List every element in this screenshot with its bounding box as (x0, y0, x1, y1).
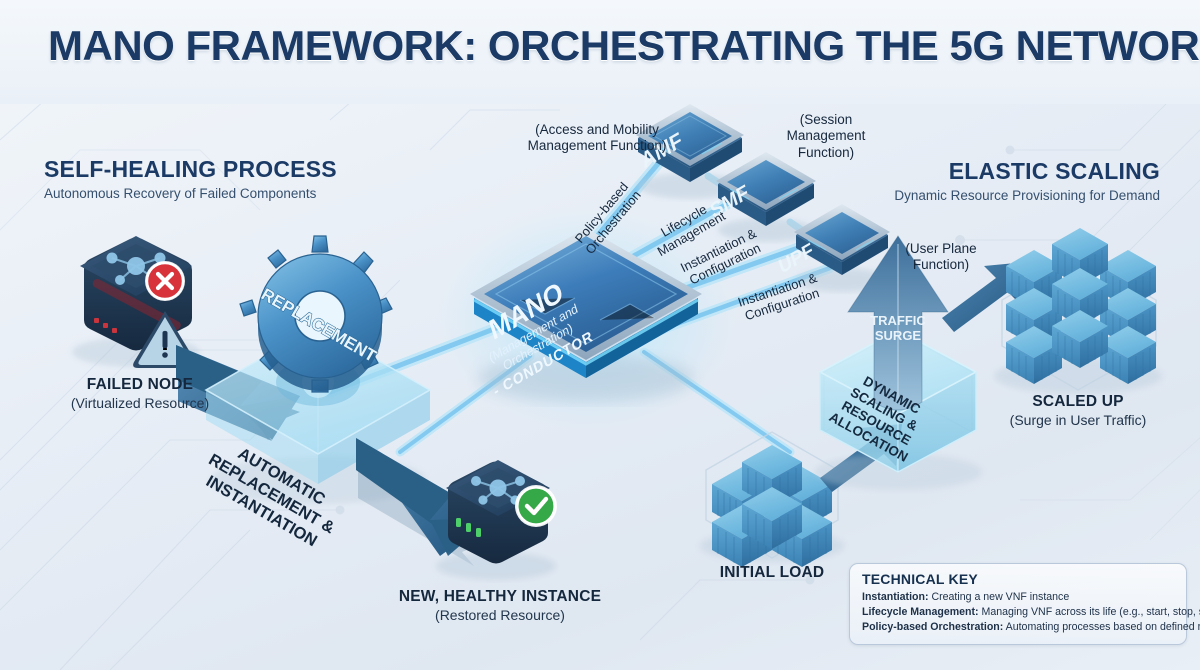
svg-text:Lifecycle: Lifecycle (658, 201, 709, 239)
key-entry-instantiation: Instantiation: Creating a new VNF instan… (862, 590, 1175, 605)
replacement-platform (206, 236, 430, 504)
link-label-policy: Policy-based Orchestration (571, 178, 644, 257)
infographic-canvas: MANO FRAMEWORK: ORCHESTRATING THE 5G NET… (0, 0, 1200, 670)
key-entry-policy: Policy-based Orchestration: Automating p… (862, 620, 1175, 635)
svg-text:SCALING &: SCALING & (848, 385, 920, 434)
svg-text:Policy-based: Policy-based (572, 179, 631, 246)
automatic-replacement-label: AUTOMATIC REPLACEMENT & INSTANTIATION (195, 433, 347, 554)
svg-text:MANO: MANO (485, 275, 566, 346)
svg-text:Orchestration): Orchestration) (501, 320, 574, 373)
replacement-gear-icon (240, 236, 392, 392)
svg-text:Instantiation &: Instantiation & (736, 270, 819, 310)
section-header-elastic-scaling: ELASTIC SCALING Dynamic Resource Provisi… (894, 158, 1160, 203)
key-entry-lifecycle: Lifecycle Management: Managing VNF acros… (862, 605, 1175, 620)
link-label-lifecycle: Lifecycle Management (647, 195, 728, 259)
self-healing-subheading: Autonomous Recovery of Failed Components (44, 186, 337, 201)
key-definition: Automating processes based on defined ru… (1003, 621, 1200, 633)
initial-load-caption: INITIAL LOAD (692, 564, 852, 582)
link-label-instantiation-2: Instantiation & Configuration (736, 270, 824, 324)
failed-node-title: FAILED NODE (30, 376, 250, 394)
dynamic-scaling-cube (814, 330, 982, 490)
initial-load-title: INITIAL LOAD (692, 564, 852, 582)
scaled-up-caption: SCALED UP (Surge in User Traffic) (988, 393, 1168, 428)
svg-text:DYNAMIC: DYNAMIC (861, 373, 924, 417)
healthy-node-graphic (436, 460, 557, 580)
failed-node-graphic (72, 236, 200, 368)
svg-text:Instantiation &: Instantiation & (678, 225, 759, 275)
initial-load-graphic (700, 432, 844, 567)
upf-expansion: (User Plane Function) (886, 241, 996, 274)
link-label-instantiation-1: Instantiation & Configuration (678, 225, 765, 288)
warning-triangle-icon (133, 311, 197, 368)
svg-text:Management: Management (655, 208, 729, 259)
svg-text:ALLOCATION: ALLOCATION (827, 409, 911, 465)
key-term: Lifecycle Management: (862, 606, 979, 618)
elastic-scaling-subheading: Dynamic Resource Provisioning for Demand (894, 188, 1160, 203)
svg-text:AUTOMATIC: AUTOMATIC (235, 444, 328, 508)
svg-text:REPLACEMENT &: REPLACEMENT & (205, 451, 337, 538)
dynamic-scaling-label: DYNAMIC SCALING & RESOURCE ALLOCATION (827, 367, 934, 465)
svg-text:Configuration: Configuration (687, 240, 763, 287)
scaled-up-title: SCALED UP (988, 393, 1168, 411)
svg-text:Configuration: Configuration (743, 285, 821, 323)
key-definition: Creating a new VNF instance (929, 591, 1070, 603)
key-term: Instantiation: (862, 591, 929, 603)
red-x-icon (145, 261, 185, 301)
healthy-node-subtitle: (Restored Resource) (380, 607, 620, 623)
upf-label: UPF (777, 239, 817, 278)
replacement-gear-label: REPLACEMENT (258, 285, 380, 366)
svg-text:SURGE: SURGE (875, 328, 922, 343)
mano-conductor-chip (470, 228, 702, 402)
svg-text:(Management and: (Management and (487, 301, 579, 365)
technical-key-panel: TECHNICAL KEY Instantiation: Creating a … (849, 563, 1187, 645)
key-definition: Managing VNF across its life (e.g., star… (979, 606, 1200, 618)
scaled-up-graphic (994, 228, 1162, 394)
mano-core-text: MANO (Management and Orchestration) - CO… (472, 267, 595, 400)
svg-text:INSTANTIATION: INSTANTIATION (203, 472, 320, 550)
healthy-node-title: NEW, HEALTHY INSTANCE (380, 588, 620, 606)
amf-expansion: (Access and Mobility Management Function… (497, 122, 697, 155)
network-function-upf (794, 204, 890, 292)
failed-node-caption: FAILED NODE (Virtualized Resource) (30, 376, 250, 411)
svg-text:Orchestration: Orchestration (582, 187, 644, 256)
svg-text:TRAFFIC: TRAFFIC (870, 313, 926, 328)
green-check-icon (515, 485, 557, 527)
technical-key-list: Instantiation: Creating a new VNF instan… (862, 590, 1175, 635)
scaled-up-subtitle: (Surge in User Traffic) (988, 412, 1168, 428)
traffic-surge-label: TRAFFIC SURGE (870, 313, 926, 343)
network-function-smf (716, 152, 816, 242)
healthy-node-caption: NEW, HEALTHY INSTANCE (Restored Resource… (380, 588, 620, 623)
key-term: Policy-based Orchestration: (862, 621, 1003, 633)
page-title: MANO FRAMEWORK: ORCHESTRATING THE 5G NET… (48, 22, 1200, 70)
self-healing-heading: SELF-HEALING PROCESS (44, 156, 337, 183)
arrow-replacement-to-healthy (356, 438, 500, 566)
svg-text:RESOURCE: RESOURCE (839, 398, 913, 448)
elastic-scaling-heading: ELASTIC SCALING (894, 158, 1160, 185)
section-header-self-healing: SELF-HEALING PROCESS Autonomous Recovery… (44, 156, 337, 201)
failed-node-subtitle: (Virtualized Resource) (30, 395, 250, 411)
arrow-load-to-scaling (820, 424, 902, 492)
technical-key-heading: TECHNICAL KEY (862, 571, 1175, 587)
smf-expansion: (Session Management Function) (766, 112, 886, 161)
svg-text:- CONDUCTOR: - CONDUCTOR (492, 328, 596, 400)
smf-label: SMF (708, 181, 751, 223)
